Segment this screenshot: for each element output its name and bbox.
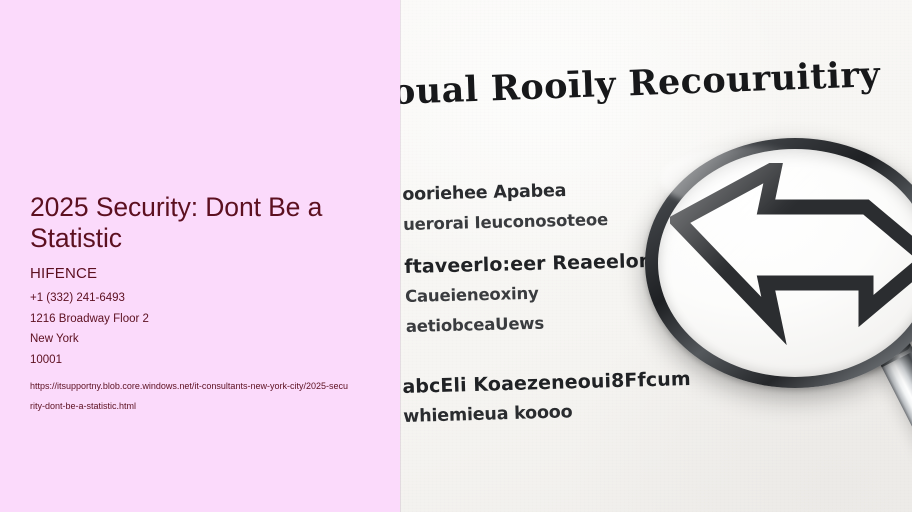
article-photo: oual Rooīly Recouruitiry ooriehee Apabea… <box>400 0 912 512</box>
brand-name: HIFENCE <box>30 264 375 283</box>
social-share-card: 2025 Security: Dont Be a Statistic HIFEN… <box>0 0 912 512</box>
magnifier-glass <box>658 149 912 377</box>
info-text-block: 2025 Security: Dont Be a Statistic HIFEN… <box>30 192 375 416</box>
contact-city: New York <box>30 329 375 350</box>
contact-street: 1216 Broadway Floor 2 <box>30 309 375 330</box>
contact-postal-code: 10001 <box>30 350 375 371</box>
magnifying-glass-icon <box>645 138 912 388</box>
arrow-cursor-icon <box>670 163 912 363</box>
contact-phone[interactable]: +1 (332) 241-6493 <box>30 288 375 309</box>
page-title: 2025 Security: Dont Be a Statistic <box>30 192 375 254</box>
panel-divider <box>400 0 401 512</box>
info-panel: 2025 Security: Dont Be a Statistic HIFEN… <box>0 0 400 512</box>
article-url[interactable]: https://itsupportny.blob.core.windows.ne… <box>30 376 348 416</box>
